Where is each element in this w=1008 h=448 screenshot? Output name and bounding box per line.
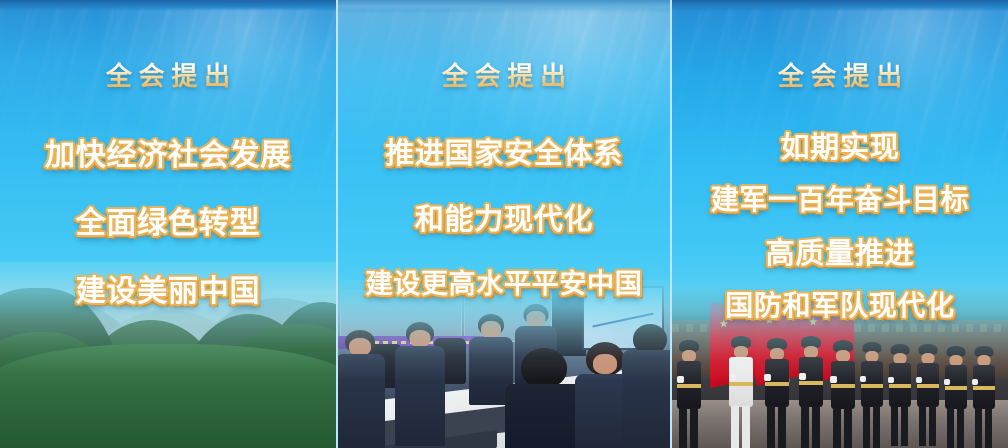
poster-panel-security: 全会提出 推进国家安全体系 和能力现代化 建设更高水平平安中国 (338, 0, 670, 448)
panel-text-content: 全会提出 推进国家安全体系 和能力现代化 建设更高水平平安中国 (338, 0, 670, 448)
panel-header-title: 全会提出 (672, 56, 1008, 93)
panel-text-content: 全会提出 加快经济社会发展 全面绿色转型 建设美丽中国 (0, 0, 336, 448)
slogan-line: 建军一百年奋斗目标 (672, 178, 1008, 218)
slogan-line: 建设美丽中国 (0, 266, 336, 310)
poster-panel-ecology: 全会提出 加快经济社会发展 全面绿色转型 建设美丽中国 (0, 0, 336, 448)
poster-panel-military: 全会提出 如期实现 建军一百年奋斗目标 高质量推进 国防和军队现代化 (672, 0, 1008, 448)
panel-header-title: 全会提出 (338, 56, 670, 93)
poster-board: 全会提出 加快经济社会发展 全面绿色转型 建设美丽中国 (0, 0, 1008, 448)
slogan-line: 高质量推进 (672, 230, 1008, 272)
slogan-line: 和能力现代化 (338, 196, 670, 238)
panel-slogan-lines: 加快经济社会发展 全面绿色转型 建设美丽中国 (0, 130, 336, 310)
slogan-line: 国防和军队现代化 (672, 284, 1008, 324)
panel-header-title: 全会提出 (0, 56, 336, 93)
slogan-line: 加快经济社会发展 (0, 130, 336, 174)
panel-text-content: 全会提出 如期实现 建军一百年奋斗目标 高质量推进 国防和军队现代化 (672, 0, 1008, 448)
slogan-line: 建设更高水平平安中国 (338, 262, 670, 301)
slogan-line: 全面绿色转型 (0, 198, 336, 242)
slogan-line: 推进国家安全体系 (338, 130, 670, 172)
panel-slogan-lines: 如期实现 建军一百年奋斗目标 高质量推进 国防和军队现代化 (672, 124, 1008, 324)
panel-slogan-lines: 推进国家安全体系 和能力现代化 建设更高水平平安中国 (338, 130, 670, 301)
slogan-line: 如期实现 (672, 124, 1008, 166)
